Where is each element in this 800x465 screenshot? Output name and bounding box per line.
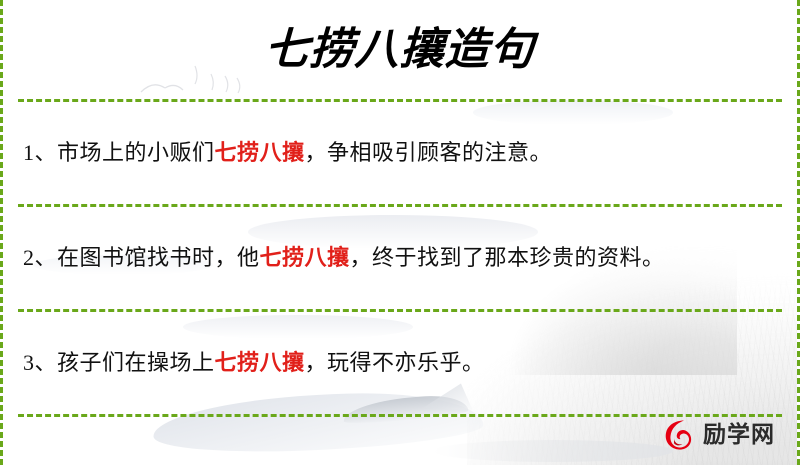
sentence-item-2: 2、在图书馆找书时，他七捞八攘，终于找到了那本珍贵的资料。 (15, 229, 785, 287)
site-watermark: 励学网 (662, 417, 775, 451)
sentence-item-3: 3、孩子们在操场上七捞八攘，玩得不亦乐乎。 (15, 334, 785, 392)
sentence-item-1: 1、市场上的小贩们七捞八攘，争相吸引顾客的注意。 (15, 124, 785, 182)
divider-1 (18, 204, 782, 207)
highlighted-idiom: 七捞八攘 (260, 245, 350, 270)
sentence-text-after: ，争相吸引顾客的注意。 (305, 140, 553, 165)
sentence-text-after: ，终于找到了那本珍贵的资料。 (350, 245, 665, 270)
sentence-index: 2、 (23, 245, 57, 270)
sentence-index: 3、 (23, 350, 57, 375)
site-watermark-text: 励学网 (703, 423, 775, 446)
highlighted-idiom: 七捞八攘 (215, 140, 305, 165)
page-title: 七捞八攘造句 (14, 0, 787, 77)
highlighted-idiom: 七捞八攘 (215, 350, 305, 375)
sentence-text-before: 市场上的小贩们 (57, 140, 215, 165)
sentence-index: 1、 (23, 140, 57, 165)
divider-2 (18, 309, 782, 312)
flame-swirl-logo-icon (662, 417, 696, 451)
sentence-text-before: 在图书馆找书时，他 (57, 245, 260, 270)
sentence-text-before: 孩子们在操场上 (57, 350, 215, 375)
sentence-page: 七捞八攘造句 1、市场上的小贩们七捞八攘，争相吸引顾客的注意。 2、在图书馆找书… (0, 0, 800, 465)
sentence-text-after: ，玩得不亦乐乎。 (305, 350, 485, 375)
divider-top (18, 99, 782, 102)
